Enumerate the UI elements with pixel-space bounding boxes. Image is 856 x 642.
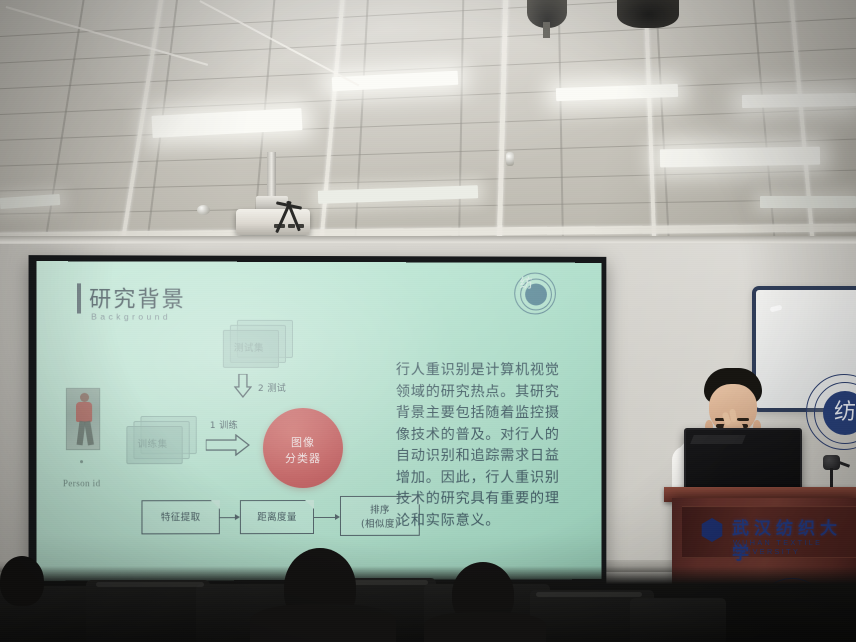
projection-screen[interactable]: 研究背景 Background 纺 Person id 测试集 2 测试 <box>37 261 602 581</box>
lecture-hall-photo: 纺 研究背景 Background 纺 Person id 测试集 <box>0 0 856 642</box>
seat <box>630 598 726 642</box>
flowbox-feature-extraction: 特征提取 <box>141 500 219 534</box>
flowbox-label: 距离度量 <box>241 512 313 524</box>
step-2-test-label: 2 测试 <box>258 381 286 394</box>
arrow-right-train <box>206 434 250 456</box>
body-line: 增加。因此，行人重识别 <box>396 467 591 489</box>
podium-university-name-en: WUHAN TEXTILE UNIVERSITY <box>733 538 856 556</box>
person-thumbnail-image <box>66 388 100 450</box>
flowbox-distance-metric: 距离度量 <box>240 500 314 534</box>
slide-subtitle: Background <box>91 312 171 322</box>
slide-title-accent-bar <box>77 283 81 313</box>
whiteboard-glare <box>770 305 783 313</box>
audience-shoulders <box>250 604 396 642</box>
body-line: 技术的研究具有重要的理 <box>396 489 591 511</box>
monitor-glare <box>690 435 746 444</box>
body-line: 论和实际意义。 <box>396 510 591 532</box>
classifier-label-line2: 分类器 <box>263 450 343 466</box>
audience-shoulders <box>424 612 546 642</box>
wall-seal-glyph: 纺 <box>823 391 856 435</box>
diagram-dot <box>80 460 83 463</box>
step-1-train-label: 1 训练 <box>210 418 238 431</box>
ceiling <box>0 0 856 252</box>
classifier-label-line1: 图像 <box>263 434 343 450</box>
train-set-label: 训练集 <box>137 436 167 450</box>
body-line: 像技术的普及。对行人的 <box>396 424 591 445</box>
body-line: 领域的研究热点。其研究 <box>396 382 591 404</box>
audience-head <box>0 556 44 606</box>
image-classifier-node: 图像 分类器 <box>263 408 343 488</box>
slide-university-seal-icon: 纺 <box>514 273 556 315</box>
test-set-label: 测试集 <box>234 340 264 354</box>
body-line: 背景主要包括随着监控摄 <box>396 403 591 424</box>
arrow-down-test <box>234 374 252 398</box>
slide-title: 研究背景 <box>89 281 186 313</box>
body-line: 自动识别和追踪需求日益 <box>396 446 591 468</box>
seat <box>86 580 210 642</box>
flowbox-label: 特征提取 <box>142 512 218 524</box>
body-line: 行人重识别是计算机视觉 <box>396 360 591 382</box>
slide-body-text: 行人重识别是计算机视觉 领域的研究热点。其研究 背景主要包括随着监控摄 像技术的… <box>396 360 591 532</box>
slide-seal-glyph: 纺 <box>515 274 537 296</box>
person-id-caption: Person id <box>63 478 101 488</box>
